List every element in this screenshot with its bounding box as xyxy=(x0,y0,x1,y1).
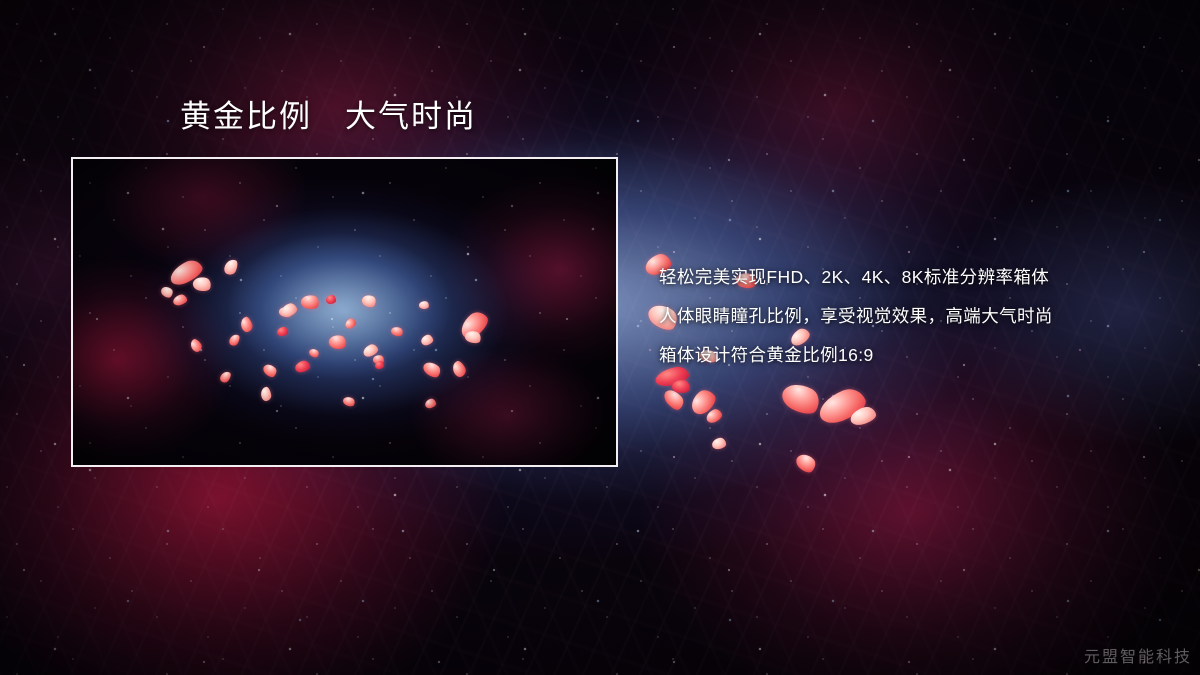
body-text-block: 轻松完美实现FHD、2K、4K、8K标准分辨率箱体 人体眼睛瞳孔比例，享受视觉效… xyxy=(659,258,1159,375)
body-line: 轻松完美实现FHD、2K、4K、8K标准分辨率箱体 xyxy=(659,258,1159,297)
presentation-slide: 黄金比例 大气时尚 轻松完美实现FHD、2K、4K、8K标准分辨率箱体 人体眼睛… xyxy=(0,0,1200,675)
framed-photo xyxy=(71,157,618,467)
page-title: 黄金比例 大气时尚 xyxy=(180,101,477,132)
watermark: 元盟智能科技 xyxy=(1084,643,1192,667)
photo-image xyxy=(73,159,616,465)
body-line: 人体眼睛瞳孔比例，享受视觉效果，高端大气时尚 xyxy=(659,297,1159,336)
body-line: 箱体设计符合黄金比例16:9 xyxy=(659,336,1159,375)
photo-vignette xyxy=(73,159,616,465)
